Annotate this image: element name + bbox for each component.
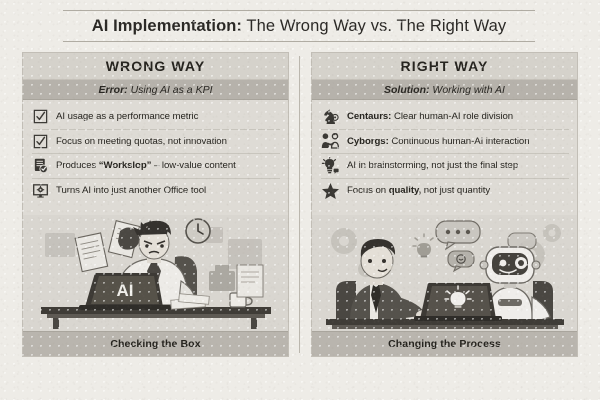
page-title-rest: The Wrong Way vs. The Right Way [242,17,506,35]
illustration-stressed-office-worker: AI [23,215,288,331]
title-rule-bottom [63,41,535,42]
panel-subheading-strong: Error: [98,84,127,96]
panel-heading-label: WRONG WAY [106,58,206,74]
caption-right-way: Changing the Process [312,331,577,356]
page-title-strong: AI Implementation: [92,17,242,35]
panel-subheader-right-way: Solution: Working with AI [312,80,577,100]
panel-subheading-label: Solution: Working with AI [384,84,505,96]
list-item[interactable]: Focus on meeting quotas, not innovation [32,130,280,155]
list-item[interactable]: Turns AI into just another Office tool [32,179,280,204]
list-item-strong: Centaurs: [347,111,391,122]
list-item-prefix: Focus on [347,185,389,196]
checkbox-checked-icon [32,108,49,125]
list-item-strong: Cyborgs: [347,136,389,147]
lightbulb-idea-icon [321,157,340,174]
panel-subheading-rest: Using AI as a KPI [128,84,213,96]
bullet-list-right-way: Centaurs: Clear human-AI role division C… [312,100,577,203]
list-item-label: AI usage as a performance metric [56,111,198,122]
list-item-label: Focus on meeting quotas, not innovation [56,136,227,147]
list-item-label: AI in brainstorming, not just the final … [347,160,518,171]
document-check-icon [32,157,49,174]
panel-subheading-strong: Solution: [384,84,430,96]
list-item-label: Produces “Workslop” – low-value content [56,160,236,171]
page-title-block: AI Implementation: The Wrong Way vs. The… [63,10,535,42]
handshake-people-icon [321,133,340,150]
list-item-label: Cyborgs: Continuous human-AI interaction [347,136,530,147]
list-item-label: Turns AI into just another Office tool [56,185,206,196]
page-title: AI Implementation: The Wrong Way vs. The… [63,11,535,41]
panel-wrong-way: WRONG WAY Error: Using AI as a KPI AI us… [22,52,289,357]
panel-right-way: RIGHT WAY Solution: Working with AI Cent… [311,52,578,357]
caption-label: Changing the Process [388,338,501,350]
list-item-label: Centaurs: Clear human-AI role division [347,111,513,122]
list-item-label: Focus on quality, not just quantity [347,185,490,196]
list-item-strong: quality, [389,185,421,196]
list-item-rest: Continuous human-AI interaction [389,136,530,147]
bullet-list-wrong-way: AI usage as a performance metric Focus o… [23,100,288,203]
list-item-rest: Clear human-AI role division [391,111,513,122]
list-item[interactable]: Produces “Workslop” – low-value content [32,154,280,179]
svg-text:AI: AI [117,281,134,300]
list-item[interactable]: AI in brainstorming, not just the final … [321,154,569,179]
list-item-strong: “Workslop” [99,160,152,171]
panel-subheading-rest: Working with AI [430,84,505,96]
list-item[interactable]: Focus on quality, not just quantity [321,179,569,204]
star-icon [321,182,340,199]
center-divider [299,56,300,353]
list-item-prefix: Produces [56,160,99,171]
checkbox-checked-icon [32,133,49,150]
list-item[interactable]: Cyborgs: Continuous human-AI interaction [321,130,569,155]
panel-heading-label: RIGHT WAY [401,58,489,74]
illustration-human-robot-collaboration [312,215,577,331]
list-item-rest: – low-value content [151,160,235,171]
caption-wrong-way: Checking the Box [23,331,288,356]
chess-knight-icon [321,108,340,125]
list-item-rest: not just quantity [421,185,490,196]
panel-subheader-wrong-way: Error: Using AI as a KPI [23,80,288,100]
list-item[interactable]: Centaurs: Clear human-AI role division [321,105,569,130]
panel-header-wrong-way: WRONG WAY [23,53,288,80]
panel-subheading-label: Error: Using AI as a KPI [98,84,212,96]
list-item[interactable]: AI usage as a performance metric [32,105,280,130]
panel-header-right-way: RIGHT WAY [312,53,577,80]
caption-label: Checking the Box [110,338,200,350]
monitor-gear-icon [32,182,49,199]
